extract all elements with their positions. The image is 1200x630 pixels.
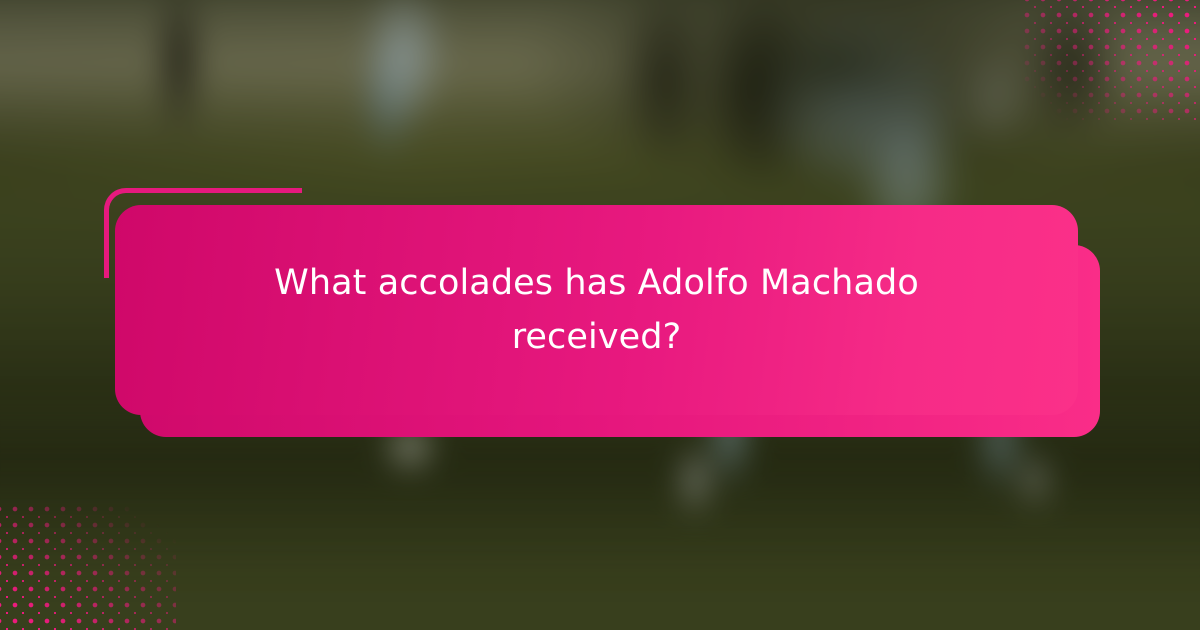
question-text: What accolades has Adolfo Machado receiv… <box>267 256 927 364</box>
question-card-group: What accolades has Adolfo Machado receiv… <box>0 0 1200 630</box>
social-card-canvas: What accolades has Adolfo Machado receiv… <box>0 0 1200 630</box>
question-card: What accolades has Adolfo Machado receiv… <box>115 205 1078 415</box>
